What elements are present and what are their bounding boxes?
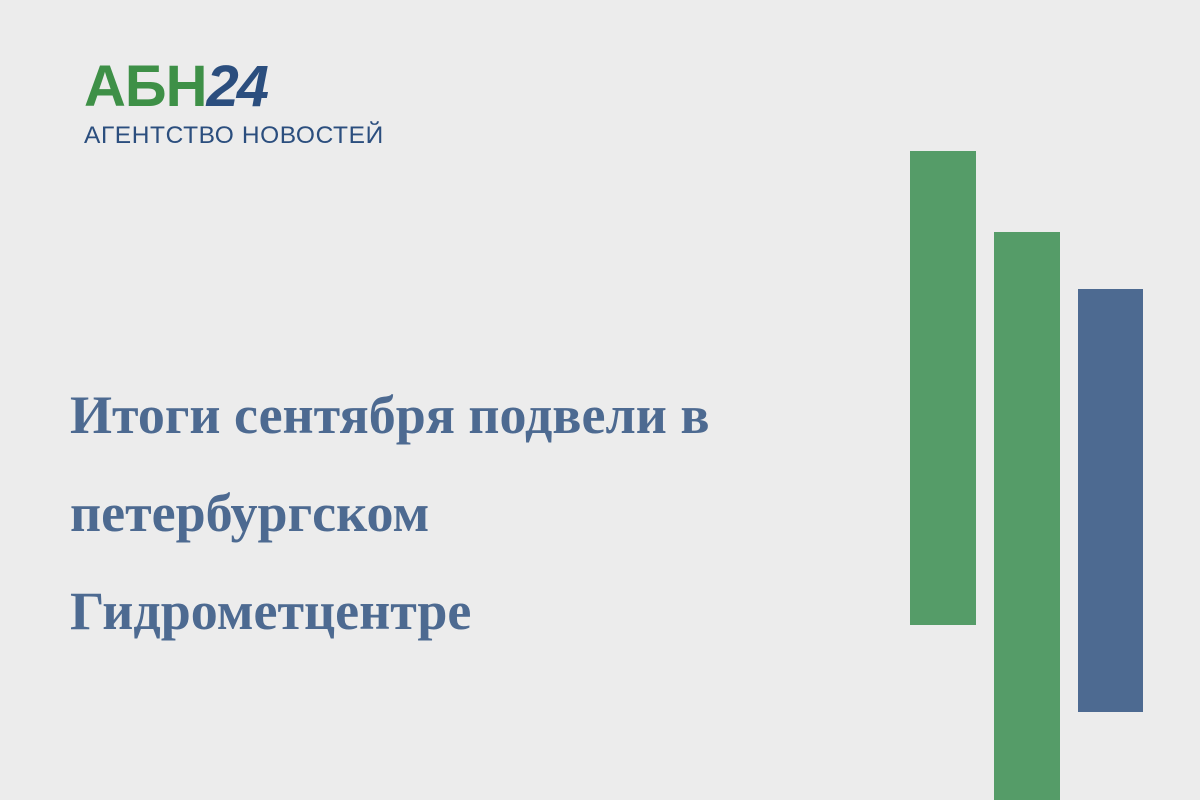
logo-wordmark: АБН24 [84, 58, 374, 116]
headline: Итоги сентября подвели в петербургском Г… [70, 366, 870, 660]
chart-bar-3 [1078, 289, 1143, 712]
chart-bar-2 [994, 232, 1060, 800]
news-card: АБН24 АГЕНТСТВО НОВОСТЕЙ Итоги сентября … [0, 0, 1200, 800]
logo-wordmark-24: 24 [206, 54, 267, 119]
logo-tagline: АГЕНТСТВО НОВОСТЕЙ [84, 123, 374, 149]
logo-wordmark-abn: АБН [84, 54, 206, 119]
headline-line-3: Гидрометцентре [70, 562, 870, 660]
headline-line-2: петербургском [70, 464, 870, 562]
headline-line-1: Итоги сентября подвели в [70, 366, 870, 464]
chart-bar-1 [910, 151, 976, 625]
brand-logo[interactable]: АБН24 АГЕНТСТВО НОВОСТЕЙ [84, 58, 374, 149]
